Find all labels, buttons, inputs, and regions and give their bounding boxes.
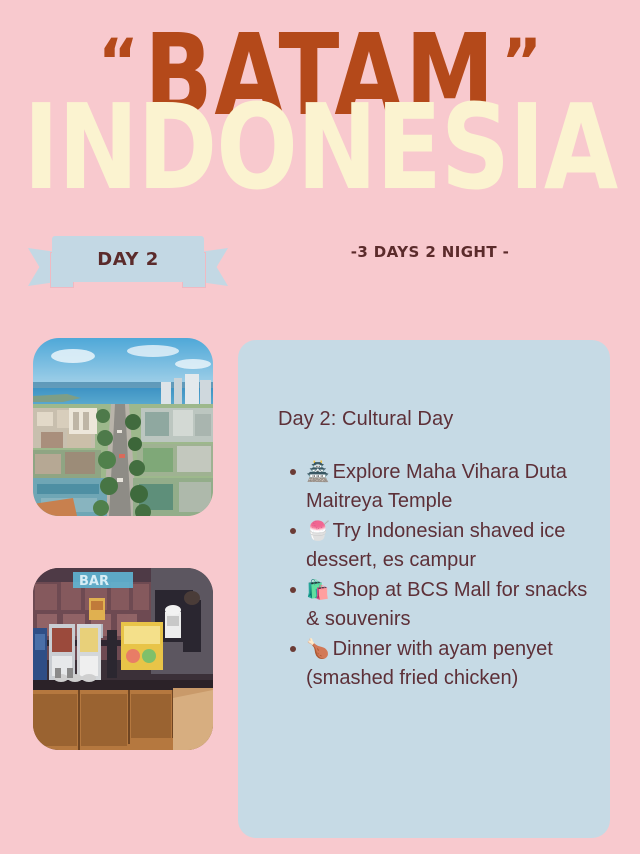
- svg-text:BAR: BAR: [79, 574, 109, 589]
- itinerary-activity-list: 🏯Explore Maha Vihara Duta Maitreya Templ…: [262, 458, 596, 694]
- day-ribbon-banner: DAY 2: [28, 236, 228, 288]
- title-word-indonesia: INDONESIA: [23, 87, 617, 210]
- bullet-dot: [290, 528, 296, 534]
- itinerary-content-card: Day 2: Cultural Day 🏯Explore Maha Vihara…: [238, 340, 610, 838]
- list-item: 🍧Try Indonesian shaved ice dessert, es c…: [290, 517, 596, 575]
- title-block: “BATAM” INDONESIA: [0, 0, 640, 230]
- bullet-dot: [290, 587, 296, 593]
- photo-batam-city-aerial: [33, 338, 213, 516]
- city-aerial-illustration: [33, 338, 213, 516]
- food-bar-illustration: BAR: [33, 568, 213, 750]
- card-heading: Day 2: Cultural Day: [278, 408, 453, 431]
- bullet-dot: [290, 646, 296, 652]
- photo-food-bar-interior: BAR: [33, 568, 213, 750]
- list-item-text: Try Indonesian shaved ice dessert, es ca…: [306, 520, 565, 571]
- bullet-dot: [290, 469, 296, 475]
- travel-itinerary-poster: “BATAM” INDONESIA DAY 2 -3 DAYS 2 NIGHT …: [0, 0, 640, 854]
- list-item: 🛍️Shop at BCS Mall for snacks & souvenir…: [290, 576, 596, 634]
- list-item-text: Shop at BCS Mall for snacks & souvenirs: [306, 579, 587, 630]
- shopping-bags-icon: 🛍️: [306, 579, 330, 601]
- list-item-text: Explore Maha Vihara Duta Maitreya Temple: [306, 461, 567, 512]
- list-item-text: Dinner with ayam penyet (smashed fried c…: [306, 638, 553, 689]
- list-item: 🍗Dinner with ayam penyet (smashed fried …: [290, 635, 596, 693]
- list-item: 🏯Explore Maha Vihara Duta Maitreya Templ…: [290, 458, 596, 516]
- poster-title-secondary: INDONESIA: [0, 96, 640, 200]
- ribbon-label: DAY 2: [97, 249, 158, 270]
- trip-duration-subtitle: -3 DAYS 2 NIGHT -: [330, 243, 530, 261]
- shaved-ice-icon: 🍧: [306, 520, 330, 542]
- ribbon-body: DAY 2: [52, 236, 204, 282]
- poultry-leg-icon: 🍗: [306, 638, 330, 660]
- japanese-castle-icon: 🏯: [306, 461, 330, 483]
